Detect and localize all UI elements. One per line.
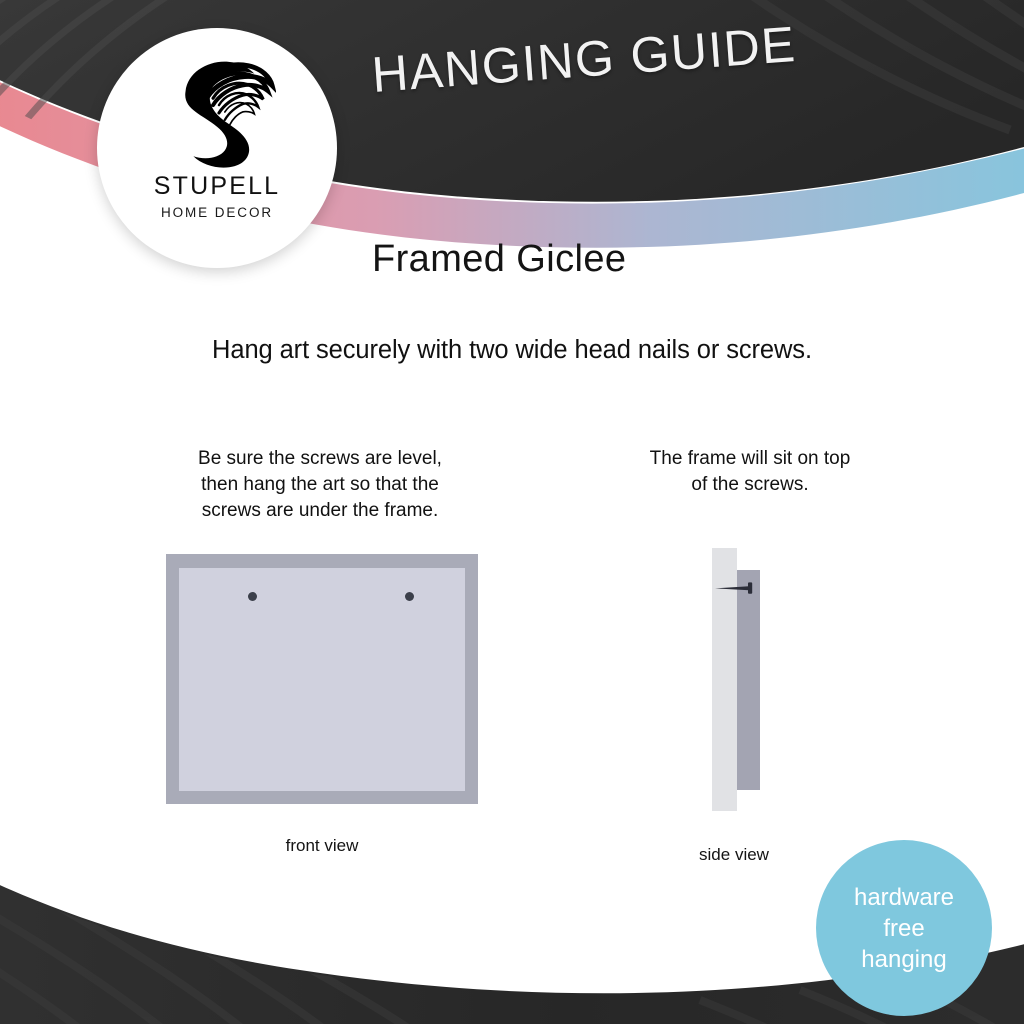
page-title: HANGING GUIDE bbox=[370, 15, 798, 104]
stupell-s-swoosh-icon bbox=[158, 52, 276, 170]
product-type-heading: Framed Giclee bbox=[372, 238, 626, 281]
badge-line-1: hardware bbox=[854, 882, 954, 913]
side-view-caption: The frame will sit on top of the screws. bbox=[600, 446, 900, 498]
badge-line-2: free bbox=[883, 913, 924, 944]
front-view-artwork-area bbox=[179, 568, 465, 791]
side-view-label: side view bbox=[640, 845, 828, 865]
screw-dot-left bbox=[248, 592, 257, 601]
main-instruction-text: Hang art securely with two wide head nai… bbox=[0, 336, 1024, 365]
front-view-caption-line-1: Be sure the screws are level, bbox=[164, 446, 476, 472]
front-view-label: front view bbox=[166, 836, 478, 856]
brand-name: STUPELL bbox=[154, 172, 281, 201]
screw-dot-right bbox=[405, 592, 414, 601]
front-view-caption-line-3: screws are under the frame. bbox=[164, 498, 476, 524]
nail-icon bbox=[713, 578, 763, 598]
brand-logo-badge: STUPELL HOME DECOR bbox=[97, 28, 337, 268]
front-view-diagram bbox=[166, 554, 478, 804]
front-view-caption-line-2: then hang the art so that the bbox=[164, 472, 476, 498]
side-view-caption-line-1: The frame will sit on top bbox=[600, 446, 900, 472]
hardware-free-hanging-badge: hardware free hanging bbox=[816, 840, 992, 1016]
front-view-caption: Be sure the screws are level, then hang … bbox=[164, 446, 476, 524]
badge-line-3: hanging bbox=[861, 944, 946, 975]
side-view-caption-line-2: of the screws. bbox=[600, 472, 900, 498]
side-view-frame bbox=[737, 570, 760, 790]
brand-tagline: HOME DECOR bbox=[161, 205, 273, 220]
hanging-guide-page: HANGING GUIDE STUPELL HOME DECOR Framed … bbox=[0, 0, 1024, 1024]
side-view-diagram bbox=[705, 540, 775, 820]
